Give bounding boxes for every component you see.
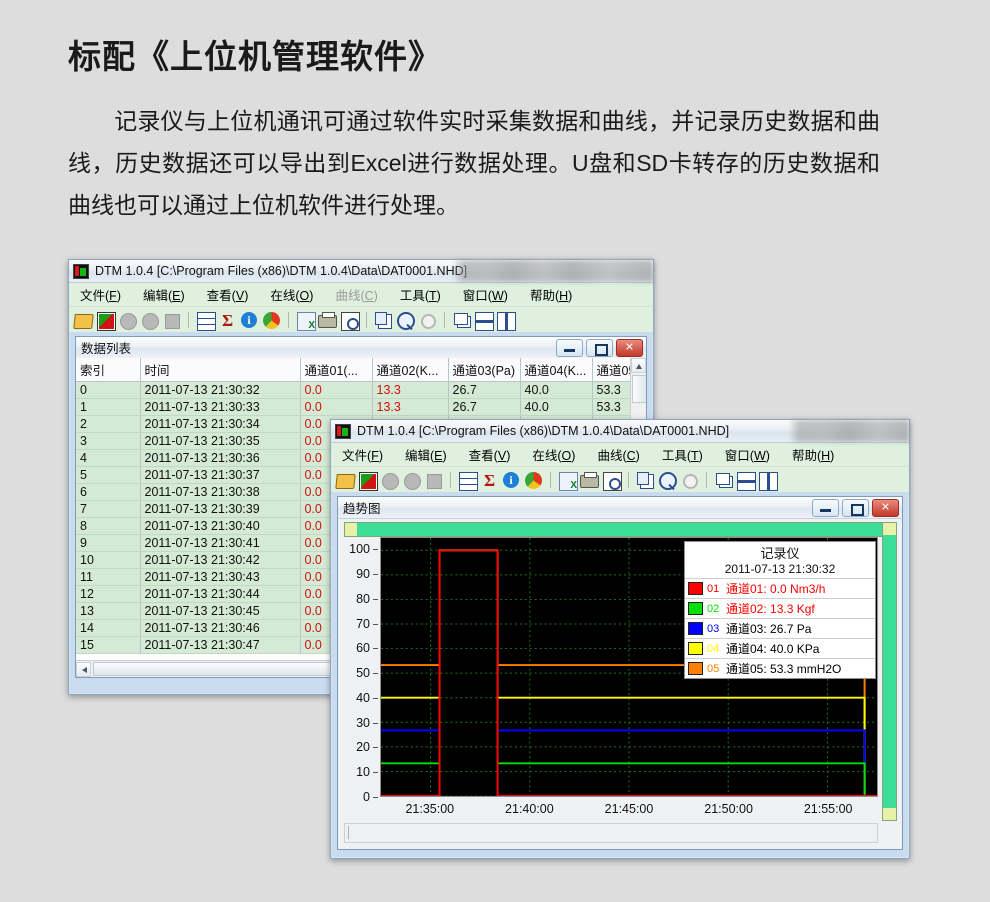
record-pause-icon-glyph — [142, 313, 159, 330]
cell-index: 14 — [76, 620, 140, 637]
menu-item-7[interactable]: 窗口(W) — [714, 445, 781, 464]
cell-index: 8 — [76, 518, 140, 535]
chart-hscroll-left-cap[interactable] — [345, 523, 357, 536]
chart-vscroll-top-cap[interactable] — [883, 523, 896, 535]
zoom-out-icon-glyph — [683, 474, 698, 489]
cascade-windows-icon-glyph — [719, 476, 733, 488]
cell-index: 6 — [76, 484, 140, 501]
pie-chart-icon-glyph — [263, 312, 280, 329]
open-file-icon[interactable] — [74, 311, 93, 330]
y-tick-label: 20 — [356, 740, 370, 754]
cell-ch1: 0.0 — [300, 399, 372, 416]
legend-channel-number: 05 — [707, 663, 722, 675]
cell-index: 7 — [76, 501, 140, 518]
record-start-icon — [380, 471, 399, 490]
cell-index: 5 — [76, 467, 140, 484]
print-preview-icon-glyph — [603, 472, 622, 491]
y-tick-label: 50 — [356, 666, 370, 680]
page-title: 标配《上位机管理软件》 — [68, 30, 948, 78]
y-tick-mark — [373, 624, 378, 625]
copy-icon-glyph — [640, 474, 654, 489]
app-icon — [335, 424, 351, 439]
window-title-front: DTM 1.0.4 [C:\Program Files (x86)\DTM 1.… — [357, 424, 729, 438]
record-stop-icon-glyph — [165, 314, 180, 329]
x-tick-label: 21:45:00 — [605, 802, 654, 816]
cell-index: 15 — [76, 637, 140, 654]
cell-time: 2011-07-13 21:30:41 — [140, 535, 300, 552]
cell-time: 2011-07-13 21:30:43 — [140, 569, 300, 586]
cell-index: 12 — [76, 586, 140, 603]
cell-index: 10 — [76, 552, 140, 569]
chart-x-axis: 21:35:0021:40:0021:45:0021:50:0021:55:00 — [380, 797, 878, 821]
cell-ch3: 26.7 — [448, 382, 520, 399]
info-icon[interactable]: i — [240, 311, 259, 330]
legend-channel-label: 通道01: 0.0 Nm3/h — [726, 580, 825, 597]
menu-item-4[interactable]: 在线(O) — [259, 285, 324, 304]
minimize-button[interactable] — [812, 499, 839, 517]
legend-row-3[interactable]: 03通道03: 26.7 Pa — [685, 618, 875, 638]
y-tick-label: 90 — [356, 567, 370, 581]
column-header-7[interactable]: 通道05(... — [592, 358, 631, 382]
record-pause-icon — [402, 471, 421, 490]
window-title-back: DTM 1.0.4 [C:\Program Files (x86)\DTM 1.… — [95, 264, 467, 278]
dtm-window-front[interactable]: DTM 1.0.4 [C:\Program Files (x86)\DTM 1.… — [330, 419, 910, 859]
maximize-button[interactable] — [842, 499, 869, 517]
statistics-sigma-icon-glyph: Σ — [480, 471, 499, 488]
cell-index: 2 — [76, 416, 140, 433]
y-tick-mark — [373, 549, 378, 550]
y-tick-mark — [373, 723, 378, 724]
pie-chart-icon-glyph — [525, 472, 542, 489]
record-start-icon-glyph — [382, 473, 399, 490]
toolbar-separator — [628, 472, 629, 488]
y-tick-label: 10 — [356, 765, 370, 779]
menu-item-5: 曲线(C) — [324, 285, 388, 304]
zoom-in-icon[interactable] — [396, 311, 415, 330]
toolbar-separator — [288, 312, 289, 328]
legend-color-swatch — [688, 602, 703, 615]
cascade-windows-icon[interactable] — [452, 311, 471, 330]
record-pause-icon-glyph — [404, 473, 421, 490]
data-table-icon-glyph — [459, 472, 478, 491]
legend-channel-number: 01 — [707, 583, 722, 595]
menu-item-2[interactable]: 编辑(E) — [132, 285, 196, 304]
y-tick-mark — [373, 747, 378, 748]
cell-time: 2011-07-13 21:30:36 — [140, 450, 300, 467]
print-icon[interactable] — [580, 471, 599, 490]
print-preview-icon[interactable] — [340, 311, 359, 330]
copy-icon[interactable] — [636, 471, 655, 490]
page-paragraph: 记录仪与上位机通讯可通过软件实时采集数据和曲线，并记录历史数据和曲线，历史数据还… — [68, 100, 880, 226]
y-tick-mark — [373, 797, 378, 798]
menu-item-5[interactable]: 曲线(C) — [586, 445, 650, 464]
maximize-button[interactable] — [586, 339, 613, 357]
close-button[interactable]: ✕ — [872, 499, 899, 517]
toolbar-separator — [444, 312, 445, 328]
statistics-sigma-icon-glyph: Σ — [218, 311, 237, 328]
menubar-front[interactable]: 文件(F)编辑(E)查看(V)在线(O)曲线(C)工具(T)窗口(W)帮助(H) — [331, 443, 909, 467]
cell-time: 2011-07-13 21:30:40 — [140, 518, 300, 535]
legend-timestamp: 2011-07-13 21:30:32 — [685, 562, 875, 578]
menu-item-3[interactable]: 查看(V) — [458, 445, 522, 464]
chart-plot-wrapper: 0102030405060708090100 21:35:0021:40:002… — [344, 537, 878, 821]
x-tick-label: 21:35:00 — [405, 802, 454, 816]
tile-vertical-icon[interactable] — [496, 311, 515, 330]
cell-index: 11 — [76, 569, 140, 586]
menubar-back[interactable]: 文件(F)编辑(E)查看(V)在线(O)曲线(C)工具(T)窗口(W)帮助(H) — [69, 283, 653, 307]
y-tick-mark — [373, 648, 378, 649]
menu-item-8[interactable]: 帮助(H) — [781, 445, 845, 464]
open-file-icon-glyph — [73, 314, 94, 329]
cell-time: 2011-07-13 21:30:46 — [140, 620, 300, 637]
x-tick-label: 21:55:00 — [804, 802, 853, 816]
legend-row-2[interactable]: 02通道02: 13.3 Kgf — [685, 598, 875, 618]
record-start-icon — [118, 311, 137, 330]
y-tick-mark — [373, 698, 378, 699]
record-pause-icon — [140, 311, 159, 330]
trend-chart-icon-glyph — [359, 472, 378, 491]
cell-index: 4 — [76, 450, 140, 467]
cell-time: 2011-07-13 21:30:33 — [140, 399, 300, 416]
menu-item-4[interactable]: 在线(O) — [521, 445, 586, 464]
legend-color-swatch — [688, 662, 703, 675]
zoom-in-icon-glyph — [659, 472, 677, 490]
record-stop-icon — [162, 311, 181, 330]
scroll-left-button[interactable] — [76, 662, 91, 677]
table-header-row[interactable]: 索引时间通道01(...通道02(K...通道03(Pa)通道04(K...通道… — [76, 358, 631, 382]
tile-vertical-icon-glyph — [759, 472, 778, 491]
toolbar-front[interactable]: Σi — [331, 467, 909, 494]
menu-item-3[interactable]: 查看(V) — [196, 285, 260, 304]
cell-ch2: 13.3 — [372, 382, 448, 399]
record-stop-icon — [424, 471, 443, 490]
menu-item-2[interactable]: 编辑(E) — [394, 445, 458, 464]
cascade-windows-icon-glyph — [457, 316, 471, 328]
record-start-icon-glyph — [120, 313, 137, 330]
cell-ch5: 53.3 — [592, 399, 631, 416]
toolbar-separator — [550, 472, 551, 488]
trend-chart-window[interactable]: 趋势图 ✕ 0102030405060708090100 — [337, 496, 903, 850]
statistics-sigma-icon[interactable]: Σ — [480, 471, 499, 490]
zoom-out-icon — [418, 311, 437, 330]
column-header-4[interactable]: 通道02(K... — [372, 358, 448, 382]
zoom-in-icon-glyph — [397, 312, 415, 330]
legend-channel-number: 02 — [707, 603, 722, 615]
print-preview-icon[interactable] — [602, 471, 621, 490]
cell-time: 2011-07-13 21:30:45 — [140, 603, 300, 620]
cascade-windows-icon[interactable] — [714, 471, 733, 490]
column-header-6[interactable]: 通道04(K... — [520, 358, 592, 382]
data-list-title: 数据列表 — [81, 338, 131, 357]
y-tick-label: 40 — [356, 691, 370, 705]
pie-chart-icon[interactable] — [524, 471, 543, 490]
cell-time: 2011-07-13 21:30:34 — [140, 416, 300, 433]
paragraph-text: 记录仪与上位机通讯可通过软件实时采集数据和曲线，并记录历史数据和曲线，历史数据还… — [68, 108, 880, 218]
legend-row-4[interactable]: 04通道04: 40.0 KPa — [685, 638, 875, 658]
tile-vertical-icon-glyph — [497, 312, 516, 331]
chart-statusbar — [344, 823, 878, 843]
legend-channel-number: 04 — [707, 643, 722, 655]
data-list-titlebar[interactable]: 数据列表 ✕ — [76, 337, 646, 359]
x-tick-label: 21:50:00 — [704, 802, 753, 816]
y-tick-mark — [373, 673, 378, 674]
y-tick-mark — [373, 574, 378, 575]
tile-vertical-icon[interactable] — [758, 471, 777, 490]
cell-ch1: 0.0 — [300, 382, 372, 399]
cell-ch2: 13.3 — [372, 399, 448, 416]
menu-item-6[interactable]: 工具(T) — [389, 285, 452, 304]
cell-index: 13 — [76, 603, 140, 620]
cell-time: 2011-07-13 21:30:38 — [140, 484, 300, 501]
scroll-up-button[interactable] — [631, 358, 646, 373]
y-tick-label: 0 — [363, 790, 370, 804]
y-tick-mark — [373, 772, 378, 773]
x-tick-label: 21:40:00 — [505, 802, 554, 816]
print-icon-glyph — [318, 315, 337, 328]
legend-channel-label: 通道05: 53.3 mmH2O — [726, 660, 841, 677]
cell-index: 1 — [76, 399, 140, 416]
column-header-3[interactable]: 通道01(... — [300, 358, 372, 382]
cell-time: 2011-07-13 21:30:32 — [140, 382, 300, 399]
cell-time: 2011-07-13 21:30:37 — [140, 467, 300, 484]
mdi-client-front: 趋势图 ✕ 0102030405060708090100 — [332, 492, 908, 857]
titlebar-back[interactable]: DTM 1.0.4 [C:\Program Files (x86)\DTM 1.… — [69, 260, 653, 283]
trend-chart-title: 趋势图 — [343, 498, 381, 517]
export-excel-icon[interactable] — [558, 471, 577, 490]
chart-vscrollbar[interactable] — [882, 522, 897, 821]
print-icon-glyph — [580, 475, 599, 488]
chart-vscroll-bottom-cap[interactable] — [883, 808, 896, 820]
menu-item-8[interactable]: 帮助(H) — [519, 285, 583, 304]
data-table-icon[interactable] — [196, 311, 215, 330]
toolbar-separator — [366, 312, 367, 328]
cell-time: 2011-07-13 21:30:44 — [140, 586, 300, 603]
y-tick-label: 100 — [349, 542, 370, 556]
print-icon[interactable] — [318, 311, 337, 330]
copy-icon-glyph — [378, 314, 392, 329]
open-file-icon-glyph — [335, 474, 356, 489]
legend-color-swatch — [688, 622, 703, 635]
blurred-titlebar-region — [453, 260, 653, 282]
chart-legend[interactable]: 记录仪2011-07-13 21:30:3201通道01: 0.0 Nm3/h0… — [684, 541, 876, 679]
zoom-out-icon-glyph — [421, 314, 436, 329]
legend-channel-label: 通道03: 26.7 Pa — [726, 620, 811, 637]
table-row[interactable]: 12011-07-13 21:30:330.013.326.740.053.3 — [76, 399, 631, 416]
cell-ch4: 40.0 — [520, 399, 592, 416]
info-icon[interactable]: i — [502, 471, 521, 490]
menu-item-7[interactable]: 窗口(W) — [452, 285, 519, 304]
legend-row-1[interactable]: 01通道01: 0.0 Nm3/h — [685, 578, 875, 598]
blurred-titlebar-region — [789, 420, 909, 442]
export-excel-icon-glyph — [297, 312, 316, 331]
column-header-2[interactable]: 时间 — [140, 358, 300, 382]
y-tick-label: 70 — [356, 617, 370, 631]
toolbar-separator — [450, 472, 451, 488]
y-tick-mark — [373, 599, 378, 600]
cell-index: 9 — [76, 535, 140, 552]
cell-time: 2011-07-13 21:30:39 — [140, 501, 300, 518]
chart-y-axis: 0102030405060708090100 — [344, 537, 378, 797]
minimize-button[interactable] — [556, 339, 583, 357]
tile-horizontal-icon-glyph — [475, 312, 494, 331]
export-excel-icon[interactable] — [296, 311, 315, 330]
trend-chart-icon[interactable] — [358, 471, 377, 490]
menu-item-1[interactable]: 文件(F) — [69, 285, 132, 304]
toolbar-separator — [706, 472, 707, 488]
cell-time: 2011-07-13 21:30:47 — [140, 637, 300, 654]
cell-ch5: 53.3 — [592, 382, 631, 399]
cell-time: 2011-07-13 21:30:35 — [140, 433, 300, 450]
trend-chart-icon-glyph — [97, 312, 116, 331]
tile-horizontal-icon[interactable] — [474, 311, 493, 330]
data-table-icon[interactable] — [458, 471, 477, 490]
tile-horizontal-icon[interactable] — [736, 471, 755, 490]
table-row[interactable]: 02011-07-13 21:30:320.013.326.740.053.3 — [76, 382, 631, 399]
export-excel-icon-glyph — [559, 472, 578, 491]
cell-index: 3 — [76, 433, 140, 450]
legend-channel-number: 03 — [707, 623, 722, 635]
tile-horizontal-icon-glyph — [737, 472, 756, 491]
legend-row-5[interactable]: 05通道05: 53.3 mmH2O — [685, 658, 875, 678]
copy-icon[interactable] — [374, 311, 393, 330]
toolbar-separator — [188, 312, 189, 328]
record-stop-icon-glyph — [427, 474, 442, 489]
vscroll-thumb[interactable] — [632, 375, 646, 403]
y-tick-label: 80 — [356, 592, 370, 606]
cell-ch3: 26.7 — [448, 399, 520, 416]
close-button[interactable]: ✕ — [616, 339, 643, 357]
cell-ch4: 40.0 — [520, 382, 592, 399]
trend-chart-titlebar[interactable]: 趋势图 ✕ — [338, 497, 902, 519]
y-tick-label: 30 — [356, 716, 370, 730]
column-header-1[interactable]: 索引 — [76, 358, 140, 382]
pie-chart-icon[interactable] — [262, 311, 281, 330]
print-preview-icon-glyph — [341, 312, 360, 331]
menu-item-6[interactable]: 工具(T) — [651, 445, 714, 464]
zoom-in-icon[interactable] — [658, 471, 677, 490]
data-table-icon-glyph — [197, 312, 216, 331]
legend-color-swatch — [688, 642, 703, 655]
trend-chart-icon[interactable] — [96, 311, 115, 330]
open-file-icon[interactable] — [336, 471, 355, 490]
toolbar-back[interactable]: Σi — [69, 307, 653, 334]
legend-title: 记录仪 — [685, 542, 875, 562]
info-icon-glyph: i — [241, 312, 257, 328]
legend-color-swatch — [688, 582, 703, 595]
zoom-out-icon — [680, 471, 699, 490]
statistics-sigma-icon[interactable]: Σ — [218, 311, 237, 330]
legend-channel-label: 通道04: 40.0 KPa — [726, 640, 819, 657]
menu-item-1[interactable]: 文件(F) — [331, 445, 394, 464]
legend-channel-label: 通道02: 13.3 Kgf — [726, 600, 815, 617]
cell-time: 2011-07-13 21:30:42 — [140, 552, 300, 569]
cell-index: 0 — [76, 382, 140, 399]
chart-hscrollbar[interactable] — [344, 522, 896, 537]
info-icon-glyph: i — [503, 472, 519, 488]
titlebar-front[interactable]: DTM 1.0.4 [C:\Program Files (x86)\DTM 1.… — [331, 420, 909, 443]
app-icon — [73, 264, 89, 279]
column-header-5[interactable]: 通道03(Pa) — [448, 358, 520, 382]
y-tick-label: 60 — [356, 641, 370, 655]
